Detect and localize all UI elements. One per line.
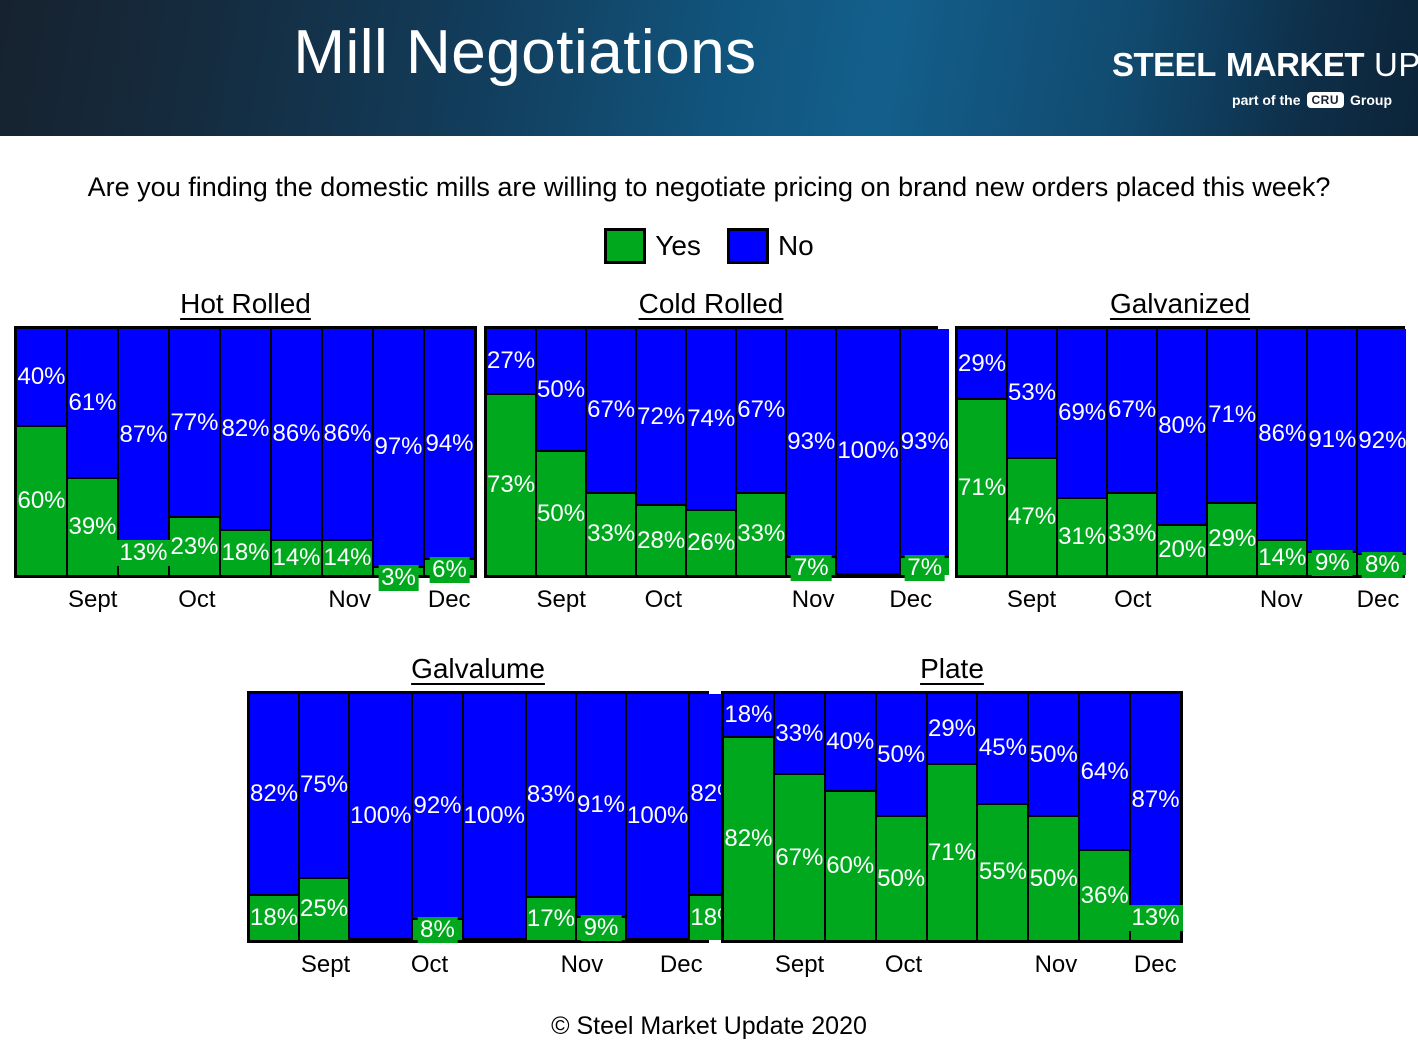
segment-galvanized-6-no[interactable]: 71% [1208, 329, 1256, 504]
segment-value-label: 69% [1058, 401, 1106, 425]
segment-value-label: 7% [904, 555, 945, 581]
axis-tick-dec: Dec [889, 586, 932, 614]
segment-galvanized-8-no[interactable]: 91% [1308, 329, 1356, 553]
segment-cold-rolled-9-yes[interactable]: 7% [901, 558, 949, 575]
segment-galvanized-3-yes[interactable]: 31% [1058, 499, 1106, 575]
bar-galvanized-2[interactable]: 53%47% [1008, 329, 1058, 575]
segment-value-label: 67% [1108, 398, 1156, 422]
segment-plate-3-yes[interactable]: 60% [826, 792, 875, 940]
segment-value-label: 33% [1108, 522, 1156, 546]
bar-hot-rolled-2[interactable]: 61%39% [68, 329, 119, 575]
bar-galvanized-7[interactable]: 86%14% [1258, 329, 1308, 575]
bar-plate-4[interactable]: 50%50% [877, 694, 928, 940]
segment-plate-2-no[interactable]: 33% [775, 694, 824, 775]
bar-plate-8[interactable]: 64%36% [1080, 694, 1131, 940]
axis-tick-oct: Oct [645, 586, 682, 614]
bar-hot-rolled-9[interactable]: 94%6% [425, 329, 474, 575]
x-axis-hot-rolled: SeptOctNovDec [14, 578, 477, 622]
bar-galvanized-8[interactable]: 91%9% [1308, 329, 1358, 575]
segment-value-label: 100% [464, 804, 525, 828]
segment-plate-7-no[interactable]: 50% [1029, 694, 1078, 817]
segment-plate-5-no[interactable]: 29% [928, 694, 977, 765]
segment-value-label: 14% [1258, 546, 1306, 570]
segment-cold-rolled-2-no[interactable]: 50% [537, 329, 585, 452]
chart-title-hot-rolled: Hot Rolled [14, 288, 477, 320]
segment-galvalume-3-no[interactable]: 100% [350, 694, 411, 940]
segment-value-label: 47% [1008, 505, 1056, 529]
plot-area-galvalume: 82%18%75%25%100%92%8%100%83%17%91%9%100%… [247, 691, 709, 943]
segment-value-label: 92% [1358, 429, 1406, 453]
logo-word-update: UPDATE [1374, 46, 1418, 83]
segment-hot-rolled-2-yes[interactable]: 39% [68, 479, 117, 575]
bar-cold-rolled-5[interactable]: 74%26% [687, 329, 737, 575]
segment-plate-1-no[interactable]: 18% [724, 694, 773, 738]
segment-galvanized-1-no[interactable]: 29% [958, 329, 1006, 400]
segment-value-label: 64% [1081, 760, 1129, 784]
segment-plate-6-yes[interactable]: 55% [978, 805, 1027, 940]
segment-hot-rolled-1-yes[interactable]: 60% [17, 427, 66, 575]
segment-value-label: 100% [627, 804, 688, 828]
steel-market-update-logo: STEELMARKETUPDATE part of the CRU Group [1044, 16, 1396, 120]
segment-value-label: 100% [350, 804, 411, 828]
chart-title-cold-rolled: Cold Rolled [484, 288, 938, 320]
segment-value-label: 91% [1308, 428, 1356, 452]
segment-value-label: 61% [68, 391, 116, 415]
logo-word-market: MARKET [1226, 46, 1364, 83]
segment-value-label: 33% [587, 522, 635, 546]
axis-tick-nov: Nov [561, 951, 604, 979]
bar-galvanized-6[interactable]: 71%29% [1208, 329, 1258, 575]
bar-cold-rolled-6[interactable]: 67%33% [737, 329, 787, 575]
segment-value-label: 82% [221, 417, 269, 441]
bar-galvalume-3[interactable]: 100% [350, 694, 413, 940]
segment-hot-rolled-3-no[interactable]: 87% [119, 329, 168, 543]
segment-value-label: 29% [1208, 527, 1256, 551]
segment-value-label: 33% [737, 522, 785, 546]
segment-value-label: 92% [413, 794, 461, 818]
segment-value-label: 9% [581, 915, 622, 941]
chart-cold-rolled: Cold Rolled27%73%50%50%67%33%72%28%74%26… [484, 288, 938, 622]
segment-value-label: 40% [826, 730, 874, 754]
segment-value-label: 97% [374, 435, 422, 459]
segment-value-label: 67% [737, 398, 785, 422]
segment-cold-rolled-7-no[interactable]: 93% [787, 329, 835, 558]
segment-hot-rolled-4-yes[interactable]: 23% [170, 518, 219, 575]
chart-galvanized: Galvanized29%71%53%47%69%31%67%33%80%20%… [955, 288, 1405, 622]
logo-wordmark: STEELMARKETUPDATE [1112, 48, 1418, 81]
segment-galvanized-3-no[interactable]: 69% [1058, 329, 1106, 499]
axis-tick-oct: Oct [178, 586, 215, 614]
segment-galvalume-1-yes[interactable]: 18% [250, 896, 298, 940]
slide-root: Mill Negotiations STEELMARKETUPDATE part… [0, 0, 1418, 1048]
segment-value-label: 18% [250, 906, 298, 930]
bar-cold-rolled-2[interactable]: 50%50% [537, 329, 587, 575]
segment-cold-rolled-5-no[interactable]: 74% [687, 329, 735, 511]
segment-value-label: 18% [724, 703, 772, 727]
segment-value-label: 80% [1158, 414, 1206, 438]
bar-galvalume-5[interactable]: 100% [464, 694, 527, 940]
bar-hot-rolled-1[interactable]: 40%60% [17, 329, 68, 575]
axis-tick-nov: Nov [1035, 951, 1078, 979]
segment-plate-4-no[interactable]: 50% [877, 694, 926, 817]
bar-plate-6[interactable]: 45%55% [978, 694, 1029, 940]
page-title: Mill Negotiations [0, 14, 1050, 92]
segment-value-label: 75% [300, 773, 348, 797]
logo-tagline: part of the CRU Group [1232, 92, 1392, 108]
segment-hot-rolled-7-yes[interactable]: 14% [323, 541, 372, 575]
segment-value-label: 31% [1058, 525, 1106, 549]
chart-title-galvanized: Galvanized [955, 288, 1405, 320]
bar-plate-1[interactable]: 18%82% [724, 694, 775, 940]
axis-tick-dec: Dec [1134, 951, 1177, 979]
bar-galvanized-4[interactable]: 67%33% [1108, 329, 1158, 575]
segment-galvalume-4-no[interactable]: 92% [413, 694, 461, 920]
segment-value-label: 100% [837, 439, 898, 463]
segment-hot-rolled-3-yes[interactable]: 13% [119, 543, 168, 575]
segment-value-label: 87% [119, 423, 167, 447]
segment-value-label: 77% [170, 411, 218, 435]
logo-tagline-pre: part of the [1232, 92, 1300, 108]
bar-cold-rolled-8[interactable]: 100% [837, 329, 900, 575]
segment-value-label: 82% [250, 782, 298, 806]
segment-value-label: 83% [527, 783, 575, 807]
segment-value-label: 36% [1081, 884, 1129, 908]
segment-value-label: 18% [221, 541, 269, 565]
segment-value-label: 94% [425, 432, 473, 456]
segment-value-label: 8% [417, 917, 458, 943]
segment-galvanized-4-no[interactable]: 67% [1108, 329, 1156, 494]
segment-value-label: 71% [928, 841, 976, 865]
segment-galvalume-5-no[interactable]: 100% [464, 694, 525, 940]
segment-value-label: 40% [17, 365, 65, 389]
legend-swatch-no [727, 228, 769, 264]
segment-galvalume-7-no[interactable]: 91% [577, 694, 625, 918]
segment-galvanized-7-no[interactable]: 86% [1258, 329, 1306, 541]
plot-area-plate: 18%82%33%67%40%60%50%50%29%71%45%55%50%5… [721, 691, 1183, 943]
segment-plate-3-no[interactable]: 40% [826, 694, 875, 792]
segment-plate-6-no[interactable]: 45% [978, 694, 1027, 805]
segment-galvanized-9-yes[interactable]: 8% [1358, 555, 1406, 575]
bar-galvanized-9[interactable]: 92%8% [1358, 329, 1406, 575]
bar-galvalume-1[interactable]: 82%18% [250, 694, 300, 940]
segment-cold-rolled-3-yes[interactable]: 33% [587, 494, 635, 575]
segment-value-label: 26% [687, 531, 735, 555]
segment-value-label: 50% [877, 743, 925, 767]
segment-hot-rolled-9-yes[interactable]: 6% [425, 560, 474, 575]
copyright-footer: © Steel Market Update 2020 [0, 1012, 1418, 1041]
segment-value-label: 67% [587, 398, 635, 422]
segment-value-label: 20% [1158, 538, 1206, 562]
segment-value-label: 71% [1208, 403, 1256, 427]
segment-value-label: 17% [527, 907, 575, 931]
segment-cold-rolled-5-yes[interactable]: 26% [687, 511, 735, 575]
segment-hot-rolled-7-no[interactable]: 86% [323, 329, 372, 541]
x-axis-galvanized: SeptOctNovDec [955, 578, 1405, 622]
segment-cold-rolled-9-no[interactable]: 93% [901, 329, 949, 558]
chart-plate: Plate18%82%33%67%40%60%50%50%29%71%45%55… [721, 653, 1183, 987]
logo-tagline-post: Group [1350, 92, 1392, 108]
segment-cold-rolled-7-yes[interactable]: 7% [787, 558, 835, 575]
segment-hot-rolled-1-no[interactable]: 40% [17, 329, 66, 427]
bar-galvalume-2[interactable]: 75%25% [300, 694, 350, 940]
segment-galvanized-5-yes[interactable]: 20% [1158, 526, 1206, 575]
segment-plate-7-yes[interactable]: 50% [1029, 817, 1078, 940]
axis-tick-nov: Nov [792, 586, 835, 614]
bar-galvanized-1[interactable]: 29%71% [958, 329, 1008, 575]
segment-cold-rolled-6-no[interactable]: 67% [737, 329, 785, 494]
chart-hot-rolled: Hot Rolled40%60%61%39%87%13%77%23%82%18%… [14, 288, 477, 622]
axis-tick-sept: Sept [1007, 586, 1056, 614]
segment-value-label: 72% [637, 405, 685, 429]
segment-hot-rolled-4-no[interactable]: 77% [170, 329, 219, 518]
cru-badge: CRU [1307, 92, 1345, 108]
axis-tick-oct: Oct [411, 951, 448, 979]
bar-galvalume-7[interactable]: 91%9% [577, 694, 627, 940]
segment-value-label: 25% [300, 897, 348, 921]
segment-value-label: 23% [170, 535, 218, 559]
segment-value-label: 82% [724, 827, 772, 851]
axis-tick-dec: Dec [1357, 586, 1400, 614]
segment-value-label: 50% [877, 867, 925, 891]
segment-value-label: 39% [68, 515, 116, 539]
segment-cold-rolled-3-no[interactable]: 67% [587, 329, 635, 494]
bar-cold-rolled-9[interactable]: 93%7% [901, 329, 949, 575]
axis-tick-nov: Nov [328, 586, 371, 614]
segment-galvanized-8-yes[interactable]: 9% [1308, 553, 1356, 575]
segment-value-label: 50% [1030, 867, 1078, 891]
segment-value-label: 67% [775, 846, 823, 870]
bar-cold-rolled-1[interactable]: 27%73% [487, 329, 537, 575]
axis-tick-sept: Sept [775, 951, 824, 979]
segment-cold-rolled-4-yes[interactable]: 28% [637, 506, 685, 575]
segment-value-label: 87% [1132, 788, 1180, 812]
bar-hot-rolled-6[interactable]: 86%14% [272, 329, 323, 575]
segment-hot-rolled-8-no[interactable]: 97% [374, 329, 423, 568]
segment-galvanized-7-yes[interactable]: 14% [1258, 541, 1306, 575]
segment-value-label: 50% [537, 378, 585, 402]
segment-hot-rolled-8-yes[interactable]: 3% [374, 568, 423, 575]
segment-value-label: 28% [637, 529, 685, 553]
segment-cold-rolled-2-yes[interactable]: 50% [537, 452, 585, 575]
bar-plate-7[interactable]: 50%50% [1029, 694, 1080, 940]
bar-hot-rolled-7[interactable]: 86%14% [323, 329, 374, 575]
chart-title-plate: Plate [721, 653, 1183, 685]
segment-value-label: 13% [1129, 905, 1183, 931]
bar-hot-rolled-5[interactable]: 82%18% [221, 329, 272, 575]
x-axis-plate: SeptOctNovDec [721, 943, 1183, 987]
segment-plate-1-yes[interactable]: 82% [724, 738, 773, 940]
segment-hot-rolled-6-no[interactable]: 86% [272, 329, 321, 541]
bar-galvalume-4[interactable]: 92%8% [413, 694, 463, 940]
bar-cold-rolled-7[interactable]: 93%7% [787, 329, 837, 575]
segment-value-label: 73% [487, 473, 535, 497]
segment-plate-9-no[interactable]: 87% [1131, 694, 1180, 908]
axis-tick-sept: Sept [536, 586, 585, 614]
segment-galvanized-9-no[interactable]: 92% [1358, 329, 1406, 555]
segment-hot-rolled-5-no[interactable]: 82% [221, 329, 270, 531]
chart-legend: Yes No [0, 228, 1418, 264]
bar-plate-2[interactable]: 33%67% [775, 694, 826, 940]
segment-value-label: 7% [791, 555, 832, 581]
segment-value-label: 60% [17, 489, 65, 513]
segment-value-label: 50% [537, 502, 585, 526]
segment-galvalume-8-no[interactable]: 100% [627, 694, 688, 940]
segment-galvalume-6-yes[interactable]: 17% [527, 898, 575, 940]
bar-plate-9[interactable]: 87%13% [1131, 694, 1180, 940]
plot-area-cold-rolled: 27%73%50%50%67%33%72%28%74%26%67%33%93%7… [484, 326, 938, 578]
segment-value-label: 53% [1008, 381, 1056, 405]
segment-cold-rolled-8-no[interactable]: 100% [837, 329, 898, 575]
segment-plate-4-yes[interactable]: 50% [877, 817, 926, 940]
segment-plate-8-no[interactable]: 64% [1080, 694, 1129, 851]
segment-plate-9-yes[interactable]: 13% [1131, 908, 1180, 940]
segment-value-label: 29% [928, 717, 976, 741]
segment-galvanized-5-no[interactable]: 80% [1158, 329, 1206, 526]
segment-value-label: 13% [116, 540, 170, 566]
bar-hot-rolled-3[interactable]: 87%13% [119, 329, 170, 575]
segment-hot-rolled-2-no[interactable]: 61% [68, 329, 117, 479]
bar-hot-rolled-8[interactable]: 97%3% [374, 329, 425, 575]
segment-value-label: 29% [958, 352, 1006, 376]
axis-tick-nov: Nov [1260, 586, 1303, 614]
bar-galvalume-8[interactable]: 100% [627, 694, 690, 940]
bar-hot-rolled-4[interactable]: 77%23% [170, 329, 221, 575]
segment-value-label: 55% [979, 860, 1027, 884]
segment-galvalume-6-no[interactable]: 83% [527, 694, 575, 898]
bar-plate-3[interactable]: 40%60% [826, 694, 877, 940]
segment-galvanized-4-yes[interactable]: 33% [1108, 494, 1156, 575]
axis-tick-dec: Dec [428, 586, 471, 614]
segment-value-label: 93% [787, 430, 835, 454]
segment-hot-rolled-5-yes[interactable]: 18% [221, 531, 270, 575]
bar-galvalume-6[interactable]: 83%17% [527, 694, 577, 940]
axis-tick-sept: Sept [68, 586, 117, 614]
segment-hot-rolled-9-no[interactable]: 94% [425, 329, 474, 560]
legend-item-yes: Yes [604, 228, 701, 264]
legend-label-no: No [778, 230, 814, 262]
axis-tick-oct: Oct [1114, 586, 1151, 614]
segment-value-label: 50% [1030, 743, 1078, 767]
logo-word-steel: STEEL [1112, 46, 1216, 83]
axis-tick-dec: Dec [660, 951, 703, 979]
segment-plate-8-yes[interactable]: 36% [1080, 851, 1129, 940]
segment-value-label: 86% [323, 422, 371, 446]
axis-tick-sept: Sept [301, 951, 350, 979]
segment-value-label: 93% [901, 430, 949, 454]
legend-swatch-yes [604, 228, 646, 264]
segment-value-label: 33% [775, 722, 823, 746]
segment-value-label: 71% [958, 476, 1006, 500]
segment-galvalume-2-yes[interactable]: 25% [300, 879, 348, 940]
segment-cold-rolled-6-yes[interactable]: 33% [737, 494, 785, 575]
plot-area-galvanized: 29%71%53%47%69%31%67%33%80%20%71%29%86%1… [955, 326, 1405, 578]
segment-value-label: 74% [687, 407, 735, 431]
segment-galvanized-1-yes[interactable]: 71% [958, 400, 1006, 575]
bar-plate-5[interactable]: 29%71% [928, 694, 979, 940]
segment-value-label: 14% [323, 546, 371, 570]
segment-plate-5-yes[interactable]: 71% [928, 765, 977, 940]
chart-title-galvalume: Galvalume [247, 653, 709, 685]
segment-galvanized-2-yes[interactable]: 47% [1008, 459, 1056, 575]
legend-item-no: No [727, 228, 814, 264]
x-axis-cold-rolled: SeptOctNovDec [484, 578, 938, 622]
segment-value-label: 14% [272, 546, 320, 570]
segment-value-label: 45% [979, 736, 1027, 760]
segment-galvalume-4-yes[interactable]: 8% [413, 920, 461, 940]
segment-hot-rolled-6-yes[interactable]: 14% [272, 541, 321, 575]
chart-galvalume: Galvalume82%18%75%25%100%92%8%100%83%17%… [247, 653, 709, 987]
survey-question: Are you finding the domestic mills are w… [0, 172, 1418, 203]
segment-galvanized-2-no[interactable]: 53% [1008, 329, 1056, 459]
plot-area-hot-rolled: 40%60%61%39%87%13%77%23%82%18%86%14%86%1… [14, 326, 477, 578]
segment-cold-rolled-1-no[interactable]: 27% [487, 329, 535, 395]
segment-galvalume-1-no[interactable]: 82% [250, 694, 298, 896]
segment-galvanized-6-yes[interactable]: 29% [1208, 504, 1256, 575]
bar-galvanized-3[interactable]: 69%31% [1058, 329, 1108, 575]
slide-header: Mill Negotiations STEELMARKETUPDATE part… [0, 0, 1418, 136]
segment-galvalume-7-yes[interactable]: 9% [577, 918, 625, 940]
legend-label-yes: Yes [655, 230, 701, 262]
bar-cold-rolled-4[interactable]: 72%28% [637, 329, 687, 575]
segment-cold-rolled-1-yes[interactable]: 73% [487, 395, 535, 575]
segment-value-label: 9% [1312, 550, 1353, 576]
segment-cold-rolled-4-no[interactable]: 72% [637, 329, 685, 506]
segment-value-label: 27% [487, 349, 535, 373]
segment-value-label: 60% [826, 854, 874, 878]
bar-galvanized-5[interactable]: 80%20% [1158, 329, 1208, 575]
segment-value-label: 86% [272, 422, 320, 446]
x-axis-galvalume: SeptOctNovDec [247, 943, 709, 987]
segment-galvalume-2-no[interactable]: 75% [300, 694, 348, 879]
axis-tick-oct: Oct [885, 951, 922, 979]
segment-value-label: 91% [577, 793, 625, 817]
segment-value-label: 8% [1362, 552, 1403, 578]
bar-cold-rolled-3[interactable]: 67%33% [587, 329, 637, 575]
segment-value-label: 86% [1258, 422, 1306, 446]
segment-plate-2-yes[interactable]: 67% [775, 775, 824, 940]
